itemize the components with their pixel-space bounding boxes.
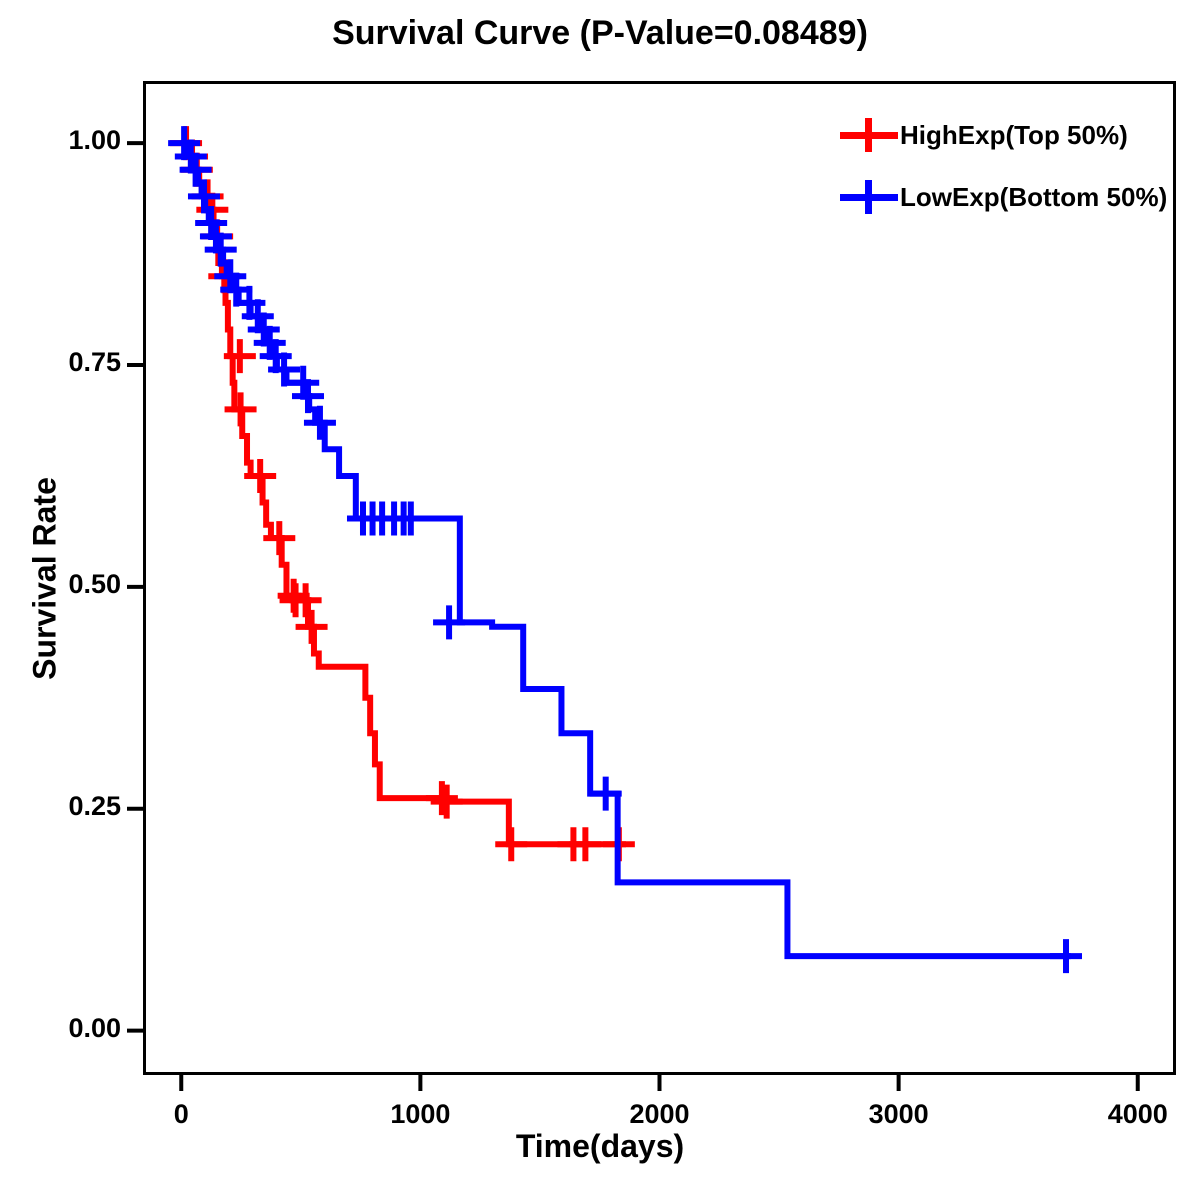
legend-label: LowExp(Bottom 50%) (900, 182, 1167, 213)
legend-label: HighExp(Top 50%) (900, 120, 1128, 151)
legend-plus-icon (838, 115, 900, 155)
censor-mark (395, 502, 427, 536)
censor-mark (1050, 939, 1082, 973)
survival-step-line (181, 143, 1071, 956)
survival-step-line (181, 143, 626, 844)
x-tick-label: 4000 (1068, 1099, 1200, 1130)
legend-plus-icon (838, 177, 900, 217)
y-tick-label: 0.25 (11, 791, 121, 822)
y-tick-label: 1.00 (11, 125, 121, 156)
legend-item[interactable]: HighExp(Top 50%) (838, 104, 1178, 166)
censor-mark (431, 785, 463, 819)
legend-item[interactable]: LowExp(Bottom 50%) (838, 166, 1178, 228)
x-tick-label: 0 (111, 1099, 251, 1130)
tick-marks (127, 143, 1138, 1091)
censor-mark (495, 827, 527, 861)
legend: HighExp(Top 50%)LowExp(Bottom 50%) (838, 104, 1178, 228)
x-axis-label: Time(days) (0, 1128, 1200, 1165)
censor-mark (426, 781, 458, 815)
series-layer (168, 126, 1082, 973)
censor-mark (225, 392, 257, 426)
y-axis-label: Survival Rate (27, 429, 64, 729)
y-tick-label: 0.00 (11, 1013, 121, 1044)
x-tick-label: 2000 (590, 1099, 730, 1130)
censor-mark (296, 610, 328, 644)
x-tick-label: 1000 (350, 1099, 490, 1130)
x-tick-label: 3000 (829, 1099, 969, 1130)
survival-curve-figure: Survival Curve (P-Value=0.08489) 0.000.2… (0, 0, 1200, 1200)
y-tick-label: 0.75 (11, 347, 121, 378)
